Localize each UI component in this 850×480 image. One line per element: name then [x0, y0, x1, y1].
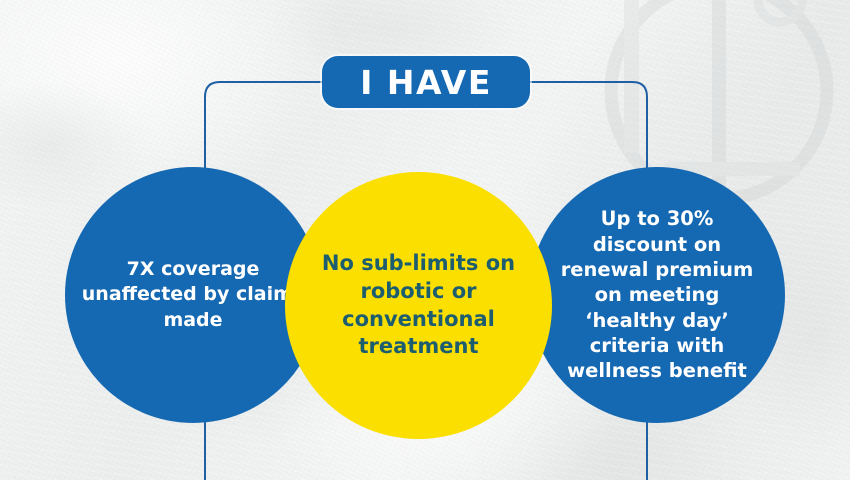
benefit-circle-coverage: 7X coverage unaffected by claims made: [65, 167, 321, 423]
benefit-circle-sub-limits: No sub-limits on robotic or conventional…: [285, 172, 552, 439]
benefit-text-sub-limits: No sub-limits on robotic or conventional…: [285, 250, 552, 361]
section-title-label: I HAVE: [360, 66, 492, 99]
benefit-circle-renewal-discount: Up to 30% discount on renewal premium on…: [529, 167, 785, 423]
section-title-badge: I HAVE: [322, 56, 530, 108]
benefit-text-coverage: 7X coverage unaffected by claims made: [65, 257, 321, 332]
infographic-canvas: I HAVE 7X coverage unaffected by claims …: [0, 0, 850, 480]
benefit-text-renewal-discount: Up to 30% discount on renewal premium on…: [529, 206, 785, 383]
